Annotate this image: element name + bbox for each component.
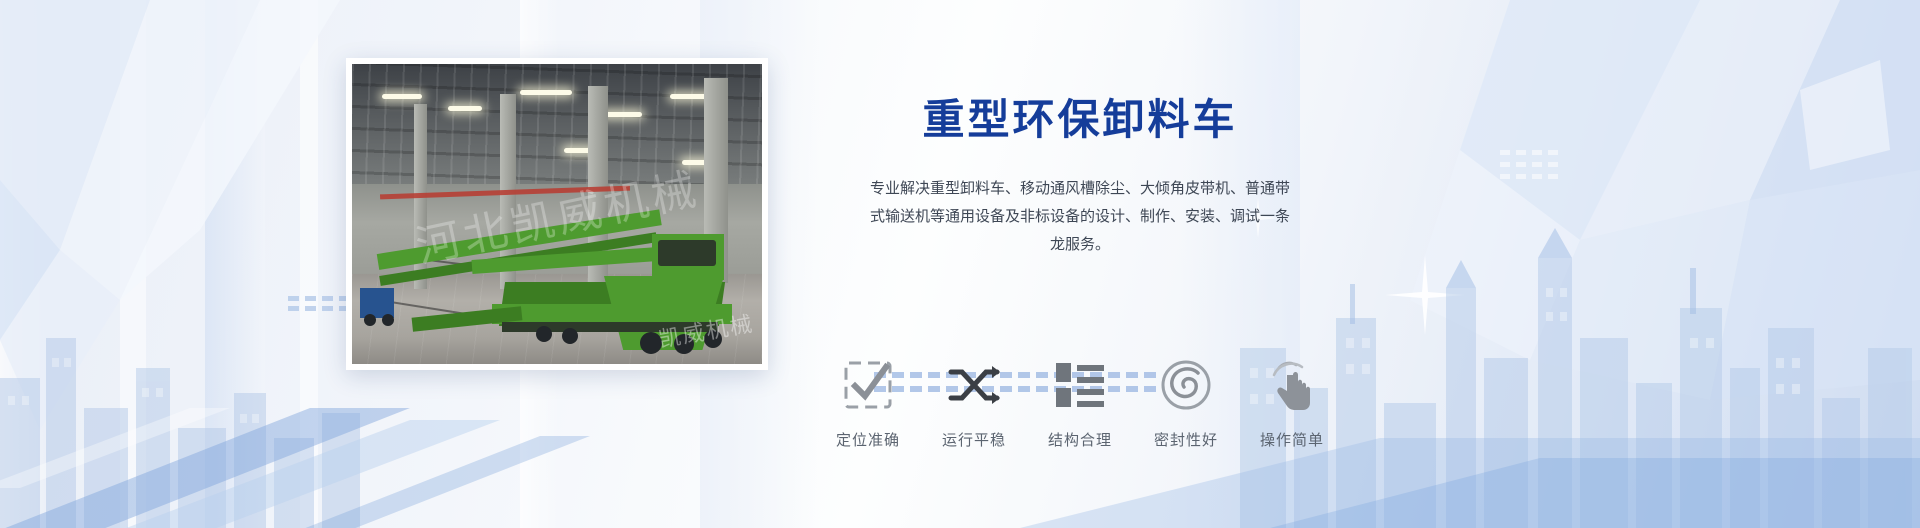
- feature-item-simple-operation: 操作简单: [1244, 355, 1340, 450]
- shuffle-arrows-icon: [926, 355, 1022, 415]
- light-band: [120, 0, 146, 528]
- banner-description: 专业解决重型卸料车、移动通风槽除尘、大倾角皮带机、普通带式输送机等通用设备及非标…: [870, 175, 1290, 258]
- feature-label: 结构合理: [1032, 429, 1128, 450]
- light-band: [300, 0, 318, 528]
- diagonal-streak: [0, 368, 740, 528]
- product-photo: 河北凯威机械 凯威机械: [352, 64, 762, 364]
- city-skyline-left: [0, 228, 360, 528]
- light-band: [0, 0, 46, 528]
- feature-item-accurate-positioning: 定位准确: [820, 355, 916, 450]
- polygon-facets-left: [0, 0, 360, 528]
- dot-grid: [1500, 150, 1630, 210]
- feature-item-smooth-operation: 运行平稳: [926, 355, 1022, 450]
- feature-label: 操作简单: [1244, 429, 1340, 450]
- sparkle-icon: [1380, 250, 1470, 340]
- feature-item-reasonable-structure: 结构合理: [1032, 355, 1128, 450]
- feature-item-good-sealing: 密封性好: [1138, 355, 1234, 450]
- banner-content: 重型环保卸料车 专业解决重型卸料车、移动通风槽除尘、大倾角皮带机、普通带式输送机…: [800, 95, 1360, 259]
- spiral-seal-icon: [1138, 355, 1234, 415]
- feature-list: 定位准确 运行平稳: [820, 355, 1340, 450]
- product-photo-frame: 河北凯威机械 凯威机械: [346, 58, 768, 370]
- light-band: [205, 0, 265, 528]
- hand-touch-icon: [1244, 355, 1340, 415]
- checkbox-check-icon: [820, 355, 916, 415]
- product-banner: 河北凯威机械 凯威机械 重型环保卸料车 专业解决重型卸料车、移动通风槽除尘、大倾…: [0, 0, 1920, 528]
- feature-label: 运行平稳: [926, 429, 1022, 450]
- layout-blocks-icon: [1032, 355, 1128, 415]
- polygon-facets-right: [1280, 0, 1920, 528]
- feature-label: 密封性好: [1138, 429, 1234, 450]
- feature-label: 定位准确: [820, 429, 916, 450]
- page-title: 重型环保卸料车: [800, 95, 1360, 145]
